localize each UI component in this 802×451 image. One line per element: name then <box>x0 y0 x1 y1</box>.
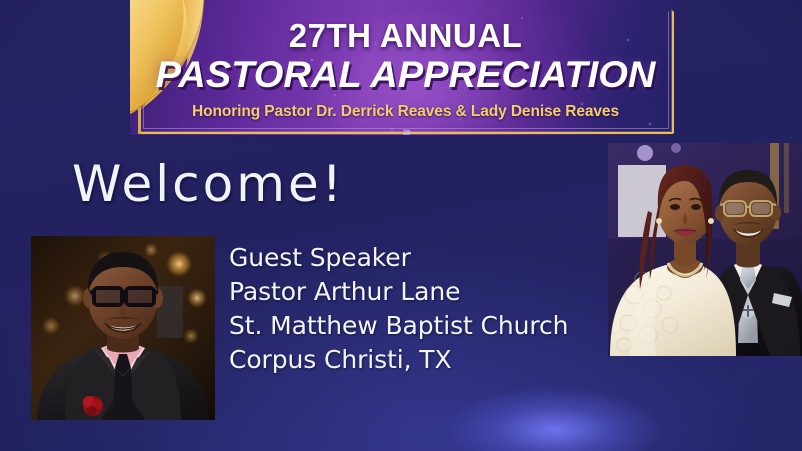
pastoral-appreciation-banner: 27TH ANNUAL PASTORAL APPRECIATION Honori… <box>130 0 681 140</box>
guest-speaker-text-block: Guest Speaker Pastor Arthur Lane St. Mat… <box>229 241 568 377</box>
presentation-slide: 27TH ANNUAL PASTORAL APPRECIATION Honori… <box>0 0 802 451</box>
speaker-line-location: Corpus Christi, TX <box>229 343 568 377</box>
speaker-portrait-photo <box>31 236 215 420</box>
speaker-line-name: Pastor Arthur Lane <box>229 275 568 309</box>
banner-title-main: PASTORAL APPRECIATION <box>130 54 681 96</box>
welcome-heading: Welcome! <box>72 155 345 213</box>
banner-subtitle-honoring: Honoring Pastor Dr. Derrick Reaves & Lad… <box>130 103 681 121</box>
honorees-couple-photo <box>608 143 802 356</box>
speaker-line-church: St. Matthew Baptist Church <box>229 309 568 343</box>
banner-title-annual: 27TH ANNUAL <box>130 17 681 55</box>
speaker-line-role: Guest Speaker <box>229 241 568 275</box>
banner-bottom-edge <box>130 135 681 140</box>
